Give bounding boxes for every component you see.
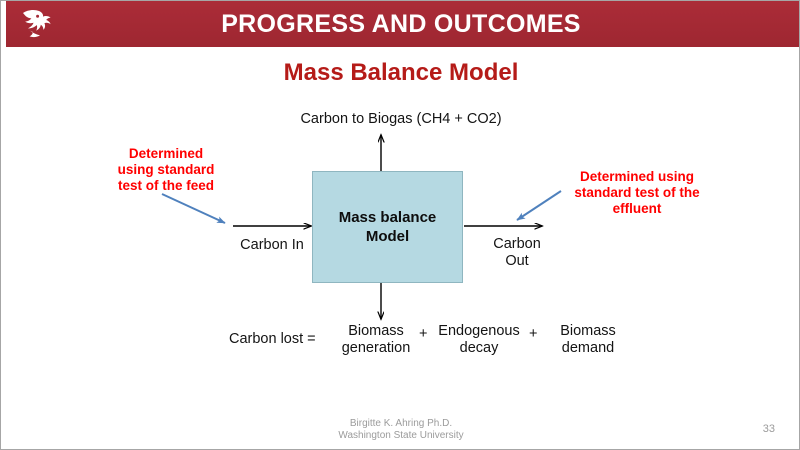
equation-operator-1: + <box>419 326 427 343</box>
slide-subtitle: Mass Balance Model <box>1 59 800 87</box>
carbon-out-label: Carbon Out <box>479 236 555 270</box>
footer-credit: Birgitte K. Ahring Ph.D. Washington Stat… <box>1 418 800 442</box>
slide-canvas: PROGRESS AND OUTCOMES Mass Balance Model <box>0 0 800 450</box>
carbon-lost-equation: Carbon lost = Biomass generation + Endog… <box>229 323 629 363</box>
carbon-in-label: Carbon In <box>232 237 312 254</box>
equation-term-biomass-generation: Biomass generation <box>335 323 417 357</box>
mass-balance-model-box: Mass balance Model <box>312 171 463 283</box>
equation-lhs: Carbon lost = <box>229 331 337 348</box>
carbon-to-biogas-label: Carbon to Biogas (CH4 + CO2) <box>1 111 800 128</box>
page-title: PROGRESS AND OUTCOMES <box>1 1 800 47</box>
equation-operator-2: + <box>529 326 537 343</box>
callout-arrow-effluent <box>517 191 561 220</box>
mass-balance-model-box-label: Mass balance Model <box>339 208 437 246</box>
equation-term-endogenous-decay: Endogenous decay <box>429 323 529 357</box>
callout-feed-note: Determined using standard test of the fe… <box>100 146 232 194</box>
equation-term-biomass-demand: Biomass demand <box>547 323 629 357</box>
page-number: 33 <box>763 423 775 435</box>
callout-effluent-note: Determined using standard test of the ef… <box>556 169 718 217</box>
callout-arrow-feed <box>162 194 225 223</box>
